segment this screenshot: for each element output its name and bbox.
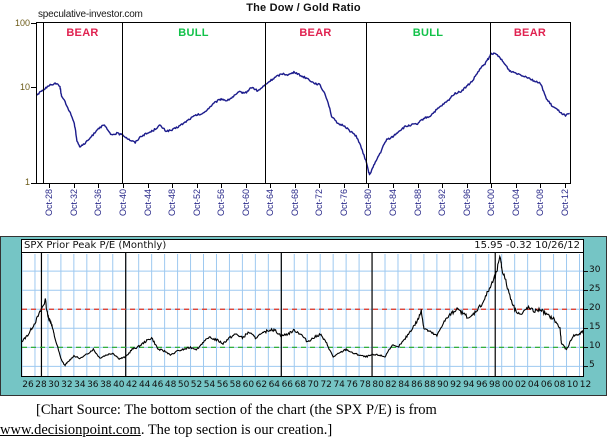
spx-pe-x-label-62: 62: [256, 380, 267, 390]
x-tick-Oct-52: [197, 184, 198, 188]
spx-pe-y-tick-20: [584, 309, 588, 310]
spx-pe-x-label-08: 08: [554, 380, 565, 390]
spx-pe-x-label-98: 98: [489, 380, 500, 390]
phase-divider-2: [122, 23, 123, 183]
caption-line-1: [Chart Source: The bottom section of the…: [0, 400, 607, 420]
spx-pe-y-label-30: 30: [589, 265, 605, 275]
x-tick-Oct-12: [565, 184, 566, 188]
x-tick-Oct-88: [418, 184, 419, 188]
spx-pe-x-label-40: 40: [113, 380, 124, 390]
x-tick-Oct-00: [491, 184, 492, 188]
site-credit-label: speculative-investor.com: [38, 9, 143, 20]
x-tick-Oct-44: [148, 184, 149, 188]
spx-pe-header-bar: SPX Prior Peak P/E (Monthly) 15.95 -0.32…: [21, 239, 584, 253]
x-axis-label-Oct-60: Oct-60: [241, 189, 251, 216]
spx-pe-x-label-90: 90: [437, 380, 448, 390]
spx-pe-x-label-92: 92: [450, 380, 461, 390]
x-axis-label-Oct-64: Oct-64: [265, 189, 275, 216]
spx-pe-y-tick-25: [584, 290, 588, 291]
x-axis-label-Oct-48: Oct-48: [167, 189, 177, 216]
y-axis-label-10: 10: [4, 82, 30, 92]
x-axis-label-Oct-40: Oct-40: [118, 189, 128, 216]
spx-pe-x-label-10: 10: [567, 380, 578, 390]
spx-pe-x-label-58: 58: [230, 380, 241, 390]
x-axis-label-Oct-72: Oct-72: [314, 189, 324, 216]
spx-pe-x-label-72: 72: [320, 380, 331, 390]
spx-pe-x-label-34: 34: [74, 380, 85, 390]
spx-pe-x-label-42: 42: [126, 380, 137, 390]
spx-pe-x-label-30: 30: [48, 380, 59, 390]
x-axis-label-Oct-08: Oct-08: [535, 189, 545, 216]
chart-page: The Dow / Gold Ratio speculative-investo…: [0, 0, 607, 443]
spx-pe-x-label-00: 00: [502, 380, 513, 390]
x-axis-label-Oct-56: Oct-56: [216, 189, 226, 216]
x-axis-label-Oct-96: Oct-96: [462, 189, 472, 216]
spx-pe-x-label-60: 60: [243, 380, 254, 390]
x-tick-Oct-36: [98, 184, 99, 188]
spx-pe-panel-title: SPX Prior Peak P/E (Monthly): [24, 240, 166, 251]
x-tick-Oct-96: [467, 184, 468, 188]
spx-pe-y-label-20: 20: [589, 303, 605, 313]
spx-pe-y-tick-5: [584, 366, 588, 367]
spx-pe-x-label-38: 38: [100, 380, 111, 390]
spx-pe-x-axis: 2628303234363840424446485052545658606264…: [21, 380, 584, 394]
spx-pe-x-label-44: 44: [139, 380, 150, 390]
x-axis-label-Oct-80: Oct-80: [363, 189, 373, 216]
x-axis-label-Oct-68: Oct-68: [290, 189, 300, 216]
x-tick-Oct-48: [172, 184, 173, 188]
x-tick-Oct-28: [49, 184, 50, 188]
spx-pe-y-label-15: 15: [589, 322, 605, 332]
spx-pe-x-label-76: 76: [346, 380, 357, 390]
x-axis-label-Oct-92: Oct-92: [437, 189, 447, 216]
spx-pe-series: [22, 240, 584, 377]
spx-pe-plot-area: [21, 239, 584, 377]
spx-pe-y-label-5: 5: [589, 360, 605, 370]
phase-divider-3: [265, 23, 266, 183]
y-axis-label-100: 100: [4, 18, 30, 28]
phase-label-bear-2: BEAR: [265, 27, 366, 39]
spx-pe-x-label-86: 86: [411, 380, 422, 390]
spx-pe-x-label-48: 48: [165, 380, 176, 390]
x-tick-Oct-72: [319, 184, 320, 188]
spx-pe-y-label-10: 10: [589, 341, 605, 351]
x-axis-label-Oct-88: Oct-88: [413, 189, 423, 216]
spx-pe-x-label-94: 94: [463, 380, 474, 390]
x-tick-Oct-08: [540, 184, 541, 188]
spx-pe-x-label-04: 04: [528, 380, 539, 390]
spx-pe-x-label-50: 50: [178, 380, 189, 390]
spx-pe-y-label-25: 25: [589, 284, 605, 294]
spx-pe-x-label-82: 82: [385, 380, 396, 390]
spx-pe-x-label-12: 12: [580, 380, 591, 390]
x-tick-Oct-68: [295, 184, 296, 188]
spx-pe-quote: 15.95 -0.32 10/26/12: [474, 240, 580, 251]
x-axis-label-Oct-76: Oct-76: [339, 189, 349, 216]
x-axis-label-Oct-52: Oct-52: [192, 189, 202, 216]
spx-pe-y-tick-15: [584, 328, 588, 329]
spx-pe-y-tick-30: [584, 271, 588, 272]
dow-gold-ratio-chart: The Dow / Gold Ratio speculative-investo…: [0, 0, 607, 230]
x-tick-Oct-04: [516, 184, 517, 188]
x-tick-Oct-32: [74, 184, 75, 188]
spx-pe-x-label-28: 28: [35, 380, 46, 390]
phase-divider-5: [490, 23, 491, 183]
spx-pe-x-label-66: 66: [282, 380, 293, 390]
x-tick-Oct-60: [246, 184, 247, 188]
spx-pe-y-tick-10: [584, 347, 588, 348]
spx-pe-x-label-02: 02: [515, 380, 526, 390]
spx-pe-x-label-74: 74: [333, 380, 344, 390]
x-tick-Oct-80: [368, 184, 369, 188]
y-axis-label-1: 1: [4, 177, 30, 187]
x-axis-label-Oct-32: Oct-32: [69, 189, 79, 216]
x-tick-Oct-56: [221, 184, 222, 188]
x-axis-label-Oct-12: Oct-12: [560, 189, 570, 216]
x-tick-Oct-92: [442, 184, 443, 188]
phase-label-bull-1: BULL: [122, 27, 265, 39]
spx-pe-y-axis: 30252015105: [584, 239, 606, 377]
caption-line-2-rest: . The top section is our creation.]: [141, 422, 332, 438]
decisionpoint-link[interactable]: www.decisionpoint.com: [0, 422, 141, 438]
x-axis-label-Oct-84: Oct-84: [388, 189, 398, 216]
spx-pe-x-label-96: 96: [476, 380, 487, 390]
spx-pe-x-label-70: 70: [307, 380, 318, 390]
spx-pe-x-label-84: 84: [398, 380, 409, 390]
spx-pe-x-label-26: 26: [22, 380, 33, 390]
caption-block: [Chart Source: The bottom section of the…: [0, 400, 607, 440]
phase-label-bear-1: BEAR: [43, 27, 122, 39]
phase-label-bear-3: BEAR: [490, 27, 570, 39]
x-axis-label-Oct-44: Oct-44: [143, 189, 153, 216]
phase-label-bull-2: BULL: [366, 27, 490, 39]
spx-pe-x-label-88: 88: [424, 380, 435, 390]
spx-pe-x-label-56: 56: [217, 380, 228, 390]
x-axis-label-Oct-28: Oct-28: [44, 189, 54, 216]
spx-pe-x-label-54: 54: [204, 380, 215, 390]
caption-line-2: www.decisionpoint.com. The top section i…: [0, 420, 607, 440]
spx-pe-x-label-64: 64: [269, 380, 280, 390]
spx-pe-x-label-32: 32: [61, 380, 72, 390]
phase-divider-4: [366, 23, 367, 183]
spx-pe-x-label-80: 80: [372, 380, 383, 390]
phase-divider-1: [43, 23, 44, 183]
x-tick-Oct-84: [393, 184, 394, 188]
x-axis-label-Oct-04: Oct-04: [511, 189, 521, 216]
x-tick-Oct-40: [123, 184, 124, 188]
spx-pe-x-label-06: 06: [541, 380, 552, 390]
x-tick-Oct-64: [270, 184, 271, 188]
x-axis-label-Oct-00: Oct-00: [486, 189, 496, 216]
spx-pe-x-label-68: 68: [295, 380, 306, 390]
spx-pe-chart: SPX Prior Peak P/E (Monthly) 15.95 -0.32…: [0, 236, 607, 396]
dow-gold-plot-area: BEAR BULL BEAR BULL BEAR: [36, 22, 571, 184]
x-axis-label-Oct-36: Oct-36: [93, 189, 103, 216]
spx-pe-x-label-52: 52: [191, 380, 202, 390]
spx-pe-x-label-46: 46: [152, 380, 163, 390]
spx-pe-x-label-36: 36: [87, 380, 98, 390]
spx-pe-x-label-78: 78: [359, 380, 370, 390]
x-tick-Oct-76: [344, 184, 345, 188]
